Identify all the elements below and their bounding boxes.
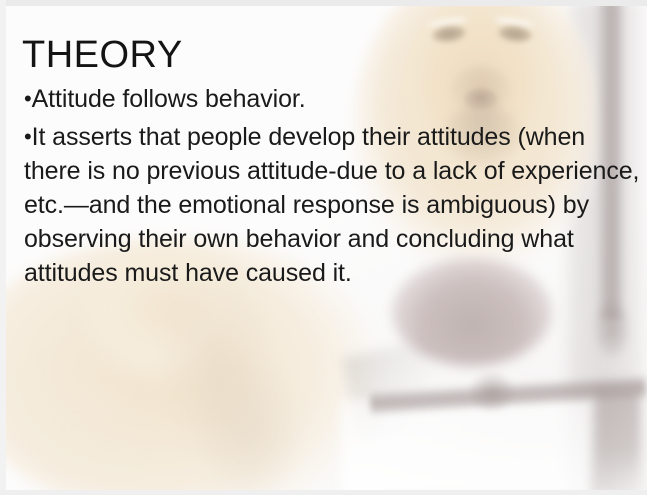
slide-title: THEORY [22,36,183,74]
bullet-item: •Attitude follows behavior. [24,82,646,116]
bullet-item-text: Attitude follows behavior. [32,85,306,113]
bullet-item-text: It asserts that people develop their att… [24,123,639,287]
bullet-list: •Attitude follows behavior. •It asserts … [24,82,646,294]
slide-content: THEORY •Attitude follows behavior. •It a… [0,0,647,495]
presentation-slide: THEORY •Attitude follows behavior. •It a… [0,0,647,495]
bullet-marker-icon: • [24,86,32,111]
bullet-marker-icon: • [24,124,32,149]
bullet-item: •It asserts that people develop their at… [24,120,646,290]
